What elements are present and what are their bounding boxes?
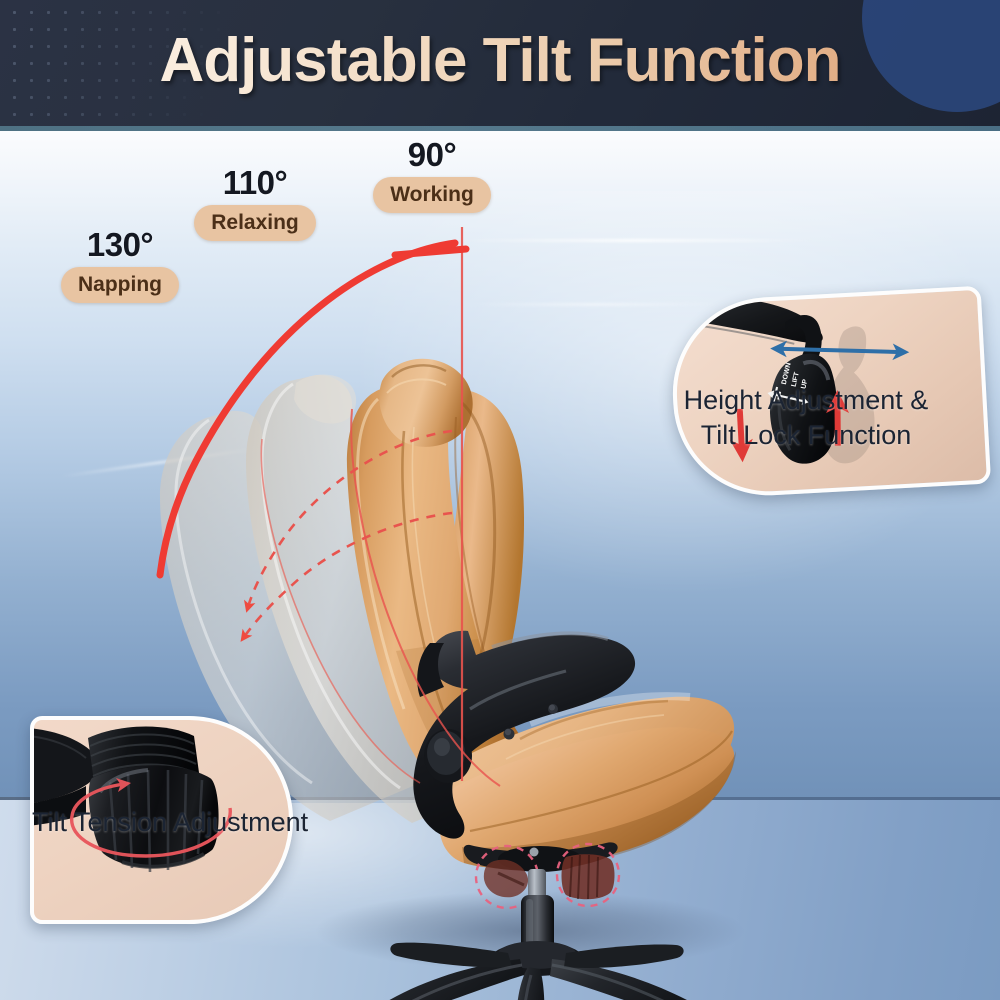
- angle-degrees: 90°: [348, 136, 516, 174]
- angle-degrees: 110°: [170, 164, 340, 202]
- page-title: Adjustable Tilt Function: [0, 15, 1000, 107]
- angle-label-110: 110° Relaxing: [170, 164, 340, 241]
- caption-line-1: Tilt Tension Adjustment: [32, 805, 308, 840]
- caption-tilt-tension: Tilt Tension Adjustment: [32, 805, 308, 840]
- angle-mode-badge: Working: [373, 177, 491, 213]
- infographic-canvas: Adjustable Tilt Function: [0, 0, 1000, 1000]
- caption-line-1: Height Adjustment &: [636, 383, 976, 418]
- angle-mode-badge: Napping: [61, 267, 179, 303]
- product-scene: 130° Napping 110° Relaxing 90° Working: [0, 131, 1000, 1000]
- angle-label-90: 90° Working: [348, 136, 516, 213]
- caption-line-2: Tilt Lock Function: [636, 418, 976, 453]
- caption-height-adjustment: Height Adjustment & Tilt Lock Function: [636, 383, 976, 453]
- angle-mode-badge: Relaxing: [194, 205, 316, 241]
- header-banner: Adjustable Tilt Function: [0, 0, 1000, 131]
